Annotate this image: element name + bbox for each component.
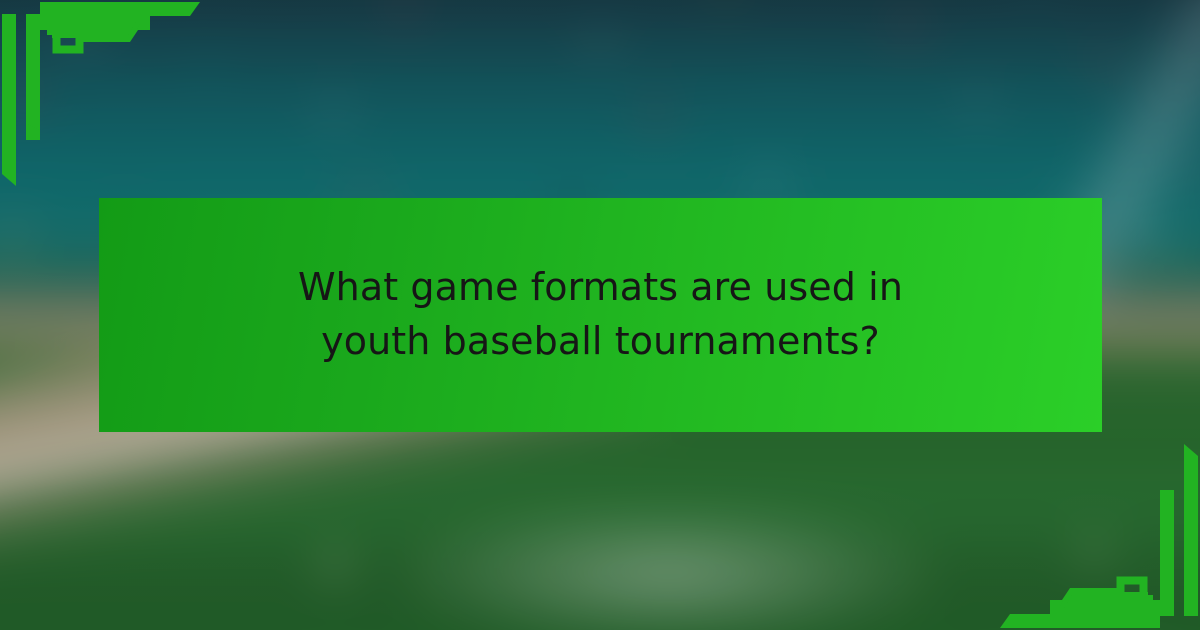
corner-bracket-bottom-right-icon [930, 430, 1200, 630]
headline-banner: What game formats are used in youth base… [99, 198, 1102, 432]
screenshot-canvas: What game formats are used in youth base… [0, 0, 1200, 630]
headline-question-text: What game formats are used in youth base… [251, 261, 951, 369]
corner-bracket-top-left-icon [0, 0, 270, 200]
